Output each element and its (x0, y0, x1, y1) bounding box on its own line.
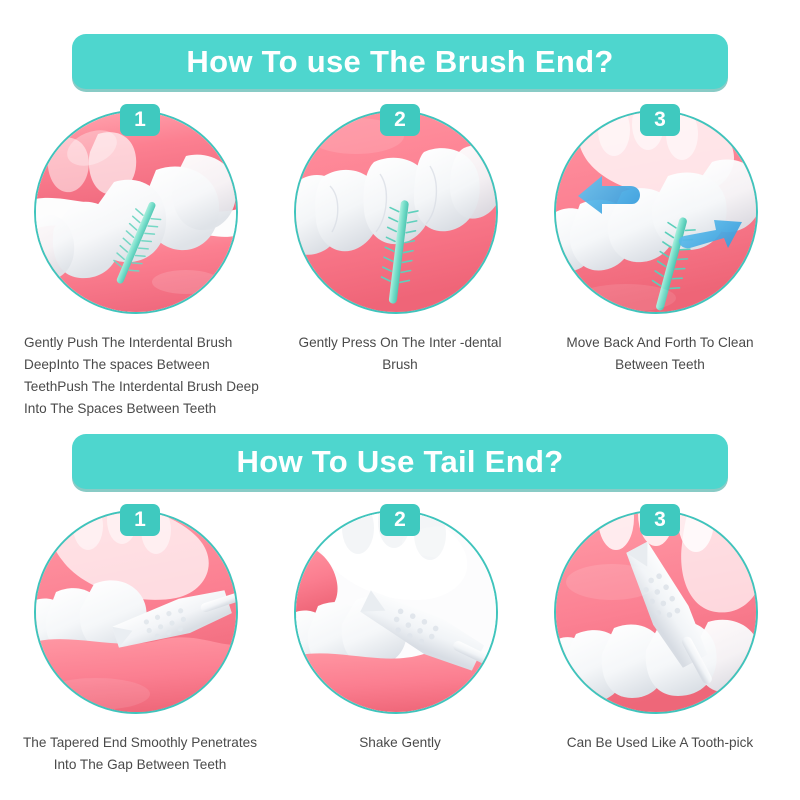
interdental-brush-inserted-between-teeth-illustration (34, 110, 238, 314)
step-number-badge: 3 (640, 104, 680, 136)
step-image-wrap-tail-2: 2 (294, 504, 506, 716)
step-number-badge: 1 (120, 504, 160, 536)
interdental-brush-pressed-top-view-illustration (294, 110, 498, 314)
step-caption: Move Back And Forth To Clean Between Tee… (542, 332, 778, 376)
step-caption: Gently Press On The Inter -dental Brush (282, 332, 518, 376)
step-number-badge: 2 (380, 504, 420, 536)
step-caption: Gently Push The Interdental Brush DeepIn… (20, 332, 260, 420)
step-card-tail-3: 3 (542, 504, 778, 776)
step-card-brush-1: 1 (22, 104, 258, 420)
step-image-wrap-brush-3: 3 (554, 104, 766, 316)
step-caption: Shake Gently (282, 732, 518, 754)
step-card-brush-3: 3 (542, 104, 778, 420)
steps-row-tail-end: 1 (0, 504, 800, 776)
step-card-tail-2: 2 (282, 504, 518, 776)
step-caption: The Tapered End Smoothly Penetrates Into… (22, 732, 258, 776)
section-banner-tail-end: How To Use Tail End? (72, 434, 728, 489)
tapered-pick-shaking-illustration (294, 510, 498, 714)
banner-title: How To Use Tail End? (237, 444, 564, 480)
step-image-wrap-brush-2: 2 (294, 104, 506, 316)
tapered-pick-entering-gap-illustration (34, 510, 238, 714)
step-card-brush-2: 2 (282, 104, 518, 420)
interdental-brush-back-and-forth-arrows-illustration (554, 110, 758, 314)
step-image-wrap-brush-1: 1 (34, 104, 246, 316)
step-image-wrap-tail-1: 1 (34, 504, 246, 716)
steps-row-brush-end: 1 (0, 104, 800, 420)
banner-title: How To use The Brush End? (186, 44, 613, 80)
tapered-pick-as-toothpick-illustration (554, 510, 758, 714)
step-number-badge: 2 (380, 104, 420, 136)
step-caption: Can Be Used Like A Tooth-pick (542, 732, 778, 754)
step-card-tail-1: 1 (22, 504, 258, 776)
section-banner-brush-end: How To use The Brush End? (72, 34, 728, 89)
step-image-wrap-tail-3: 3 (554, 504, 766, 716)
step-number-badge: 3 (640, 504, 680, 536)
step-number-badge: 1 (120, 104, 160, 136)
infographic-page: How To use The Brush End? 1 (0, 0, 800, 800)
